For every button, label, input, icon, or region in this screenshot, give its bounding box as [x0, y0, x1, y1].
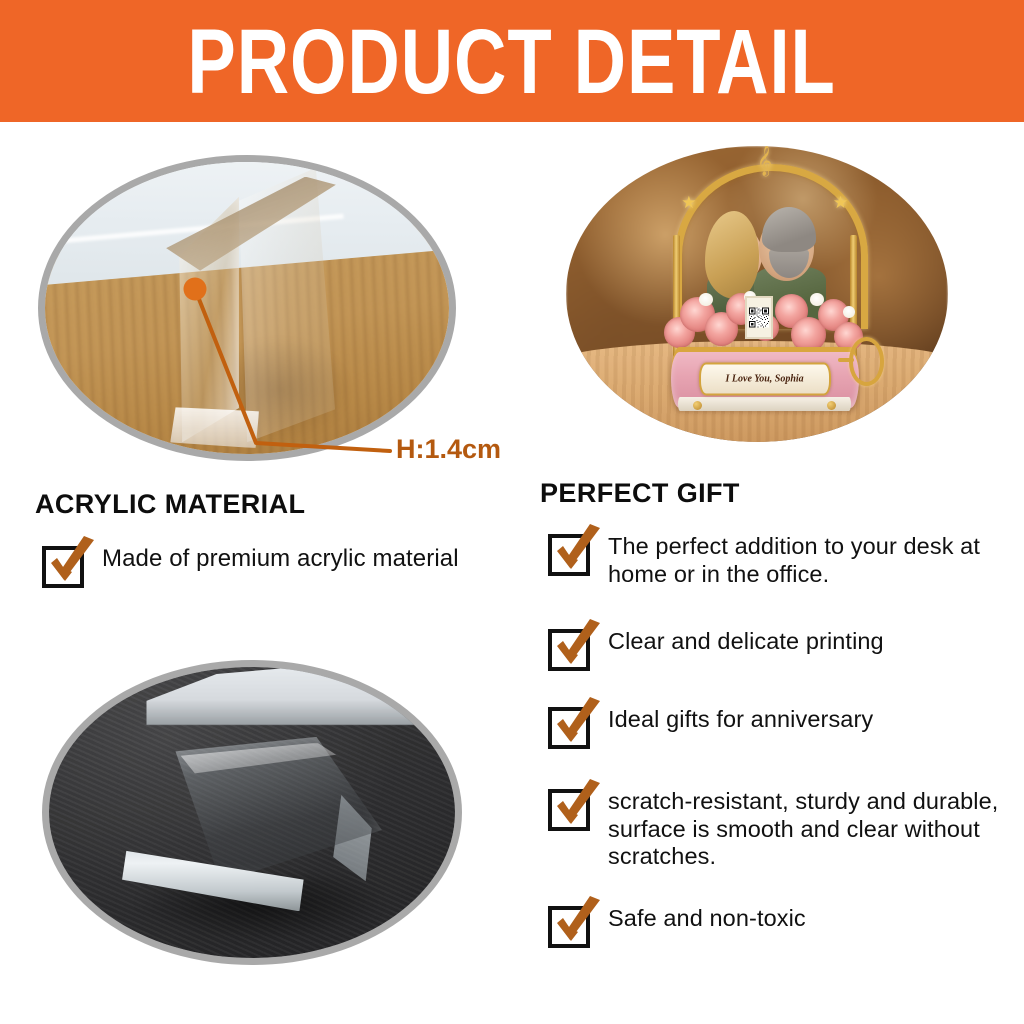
checkmark-icon [550, 896, 608, 952]
checkmark-icon [44, 536, 102, 592]
bullet-text: Clear and delicate printing [608, 628, 884, 656]
bullet-text: Ideal gifts for anniversary [608, 706, 873, 734]
star-icon-right: ★ [833, 194, 848, 211]
acrylic-bottom-edge [170, 407, 259, 448]
plaque-text: I Love You, Sophia [726, 373, 804, 384]
bullet-text: Made of premium acrylic material [102, 545, 459, 573]
acrylic-block-photo [42, 660, 462, 965]
bullet-anniversary-gift: Ideal gifts for anniversary [548, 706, 873, 749]
bullet-perfect-addition: The perfect addition to your desk at hom… [548, 533, 1024, 588]
page-title: PRODUCT DETAIL [188, 15, 836, 107]
checkbox [548, 629, 590, 671]
photo-scene [45, 162, 449, 454]
checkbox [548, 789, 590, 831]
acrylic-edge-photo [38, 155, 456, 461]
section-title-perfect-gift: PERFECT GIFT [540, 478, 740, 509]
man-hair [762, 207, 817, 252]
section-title-acrylic-material: ACRYLIC MATERIAL [35, 489, 305, 520]
music-box: 𝄞 ★ ★ [658, 164, 872, 419]
product-detail-infographic: PRODUCT DETAIL 𝄞 ★ ★ [0, 0, 1024, 1024]
wind-up-key-icon [849, 337, 885, 386]
qr-code [745, 296, 773, 339]
checkmark-icon [550, 619, 608, 675]
thickness-label: H:1.4cm [396, 434, 501, 465]
bullet-scratch-resistant: scratch-resistant, sturdy and durable, s… [548, 788, 1024, 871]
music-box-product-photo: 𝄞 ★ ★ [566, 146, 948, 442]
music-box-base: I Love You, Sophia [671, 347, 859, 408]
checkbox [548, 707, 590, 749]
bullet-acrylic-material: Made of premium acrylic material [42, 545, 459, 588]
white-filler-flower [843, 306, 855, 318]
bullet-text: Safe and non-toxic [608, 905, 806, 933]
bullet-text: The perfect addition to your desk at hom… [608, 533, 1024, 588]
treble-clef-icon: 𝄞 [757, 148, 772, 174]
checkmark-icon [550, 779, 608, 835]
header-banner: PRODUCT DETAIL [0, 0, 1024, 122]
checkmark-icon [550, 524, 608, 580]
engraved-plaque: I Love You, Sophia [699, 362, 831, 395]
checkbox [42, 546, 84, 588]
bullet-clear-printing: Clear and delicate printing [548, 628, 884, 671]
star-icon-left: ★ [681, 194, 696, 211]
bullet-text: scratch-resistant, sturdy and durable, s… [608, 788, 1024, 871]
bullet-safe-non-toxic: Safe and non-toxic [548, 905, 806, 948]
checkbox [548, 906, 590, 948]
checkbox [548, 534, 590, 576]
checkmark-icon [550, 697, 608, 753]
base-rim [678, 397, 851, 412]
woman-hair [705, 211, 760, 298]
